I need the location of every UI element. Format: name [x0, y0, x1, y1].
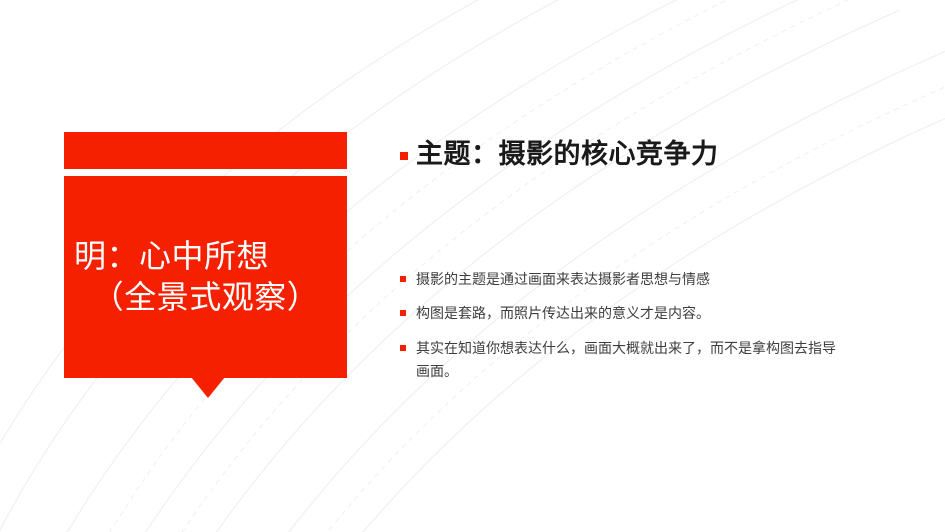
list-item-text: 构图是套路，而照片传达出来的意义才是内容。: [416, 303, 710, 326]
callout-text-block: 明：心中所想 （全景式观察）: [64, 176, 347, 378]
callout-line-2: （全景式观察）: [92, 277, 320, 318]
callout-top-bar: [64, 132, 347, 169]
page-title: 主题：摄影的核心竞争力: [416, 138, 719, 172]
heading-row: 主题：摄影的核心竞争力: [400, 138, 920, 172]
slide-canvas: 明：心中所想 （全景式观察） 主题：摄影的核心竞争力 摄影的主题是通过画面来表达…: [0, 0, 945, 532]
list-item-text: 摄影的主题是通过画面来表达摄影者思想与情感: [416, 269, 710, 292]
square-bullet-icon: [400, 276, 406, 282]
callout-pointer-tail: [191, 377, 225, 398]
list-item: 构图是套路，而照片传达出来的意义才是内容。: [400, 303, 920, 326]
square-bullet-icon: [400, 152, 408, 160]
callout-line-1: 明：心中所想: [74, 236, 269, 277]
list-item: 摄影的主题是通过画面来表达摄影者思想与情感: [400, 269, 920, 292]
bullet-list: 摄影的主题是通过画面来表达摄影者思想与情感 构图是套路，而照片传达出来的意义才是…: [400, 269, 920, 384]
content-column: 主题：摄影的核心竞争力 摄影的主题是通过画面来表达摄影者思想与情感 构图是套路，…: [400, 138, 920, 395]
list-item-text: 其实在知道你想表达什么，画面大概就出来了，而不是拿构图去指导画面。: [416, 338, 836, 383]
list-item: 其实在知道你想表达什么，画面大概就出来了，而不是拿构图去指导画面。: [400, 338, 920, 383]
square-bullet-icon: [400, 345, 406, 351]
red-callout-box: 明：心中所想 （全景式观察）: [64, 132, 347, 398]
square-bullet-icon: [400, 310, 406, 316]
